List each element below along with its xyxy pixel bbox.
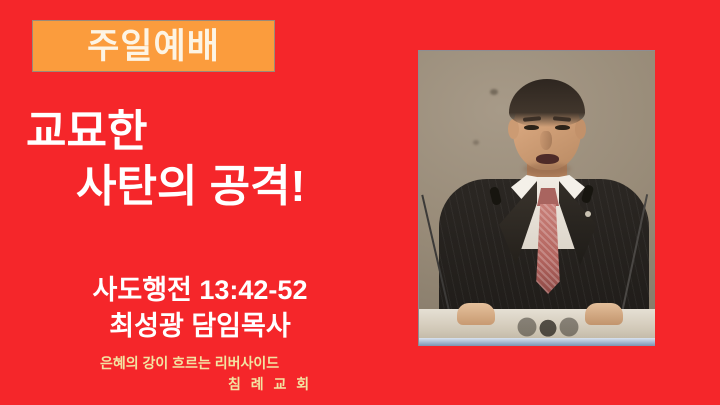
chin-shadow	[523, 163, 571, 175]
church-name-footer: 은혜의 강이 흐르는 리버사이드 침 례 교 회	[0, 353, 400, 395]
speaker-name: 최성광 담임목사	[0, 308, 400, 344]
preacher-photo	[418, 50, 655, 346]
lapel-pin-icon	[585, 211, 591, 217]
podium-emblem-icon	[513, 315, 583, 339]
scripture-reference: 사도행전 13:42-52	[0, 272, 400, 308]
wall-mark-secondary-icon	[473, 140, 479, 145]
church-name-line-1: 은혜의 강이 흐르는 리버사이드	[0, 353, 400, 374]
hand-right	[585, 303, 623, 325]
mouth	[536, 154, 559, 164]
service-type-label: 주일예배	[87, 29, 220, 64]
nose	[540, 131, 552, 150]
eye-right	[555, 125, 570, 130]
photo-bottom-band	[419, 338, 655, 346]
service-type-badge: 주일예배	[32, 20, 275, 72]
preacher-photo-scene	[419, 51, 655, 346]
sermon-title-slide: 주일예배 교묘한 사탄의 공격! 사도행전 13:42-52 최성광 담임목사 …	[0, 0, 720, 405]
sermon-meta: 사도행전 13:42-52 최성광 담임목사	[0, 272, 400, 345]
hand-left	[457, 303, 495, 325]
sermon-title: 교묘한 사탄의 공격!	[0, 104, 400, 215]
church-name-line-2: 침 례 교 회	[0, 374, 400, 395]
sermon-title-line-1: 교묘한	[0, 104, 400, 159]
sermon-title-line-2: 사탄의 공격!	[0, 159, 400, 214]
eye-left	[524, 125, 539, 130]
